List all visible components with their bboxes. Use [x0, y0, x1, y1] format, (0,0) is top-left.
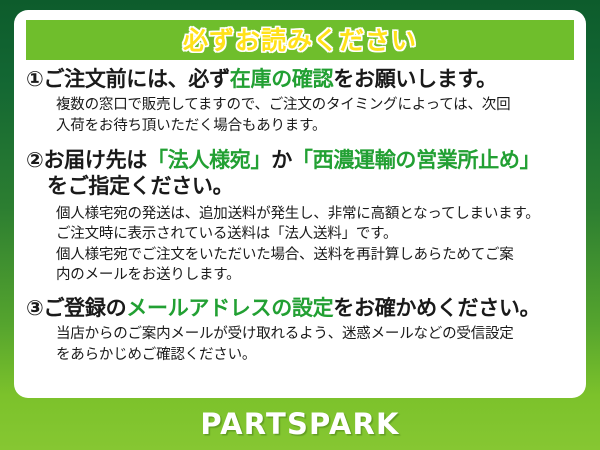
- section-1-body-line-0: 複数の窓口で販売してますので、ご注文のタイミングによっては、次回: [56, 95, 576, 116]
- section-1-marker: ①: [26, 67, 43, 91]
- section-1-body: 複数の窓口で販売してますので、ご注文のタイミングによっては、次回 入荷をお待ち頂…: [26, 95, 576, 136]
- section-1-heading-part-0: ご注文前には、必ず: [43, 67, 229, 91]
- section-3-heading: ③ご登録のメールアドレスの設定をお確かめください。: [26, 295, 576, 321]
- section-2-heading-highlight-2: 「西濃運輸の営業所止め」: [292, 148, 540, 172]
- section-3-marker: ③: [26, 296, 43, 320]
- header-banner: 必ずお読みください: [26, 20, 574, 60]
- section-1-heading-highlight: 在庫の確認: [230, 67, 334, 91]
- brand-logo: PARTSPARK: [200, 407, 399, 441]
- section-3-body-line-0: 当店からのご案内メールが受け取れるよう、迷惑メールなどの受信設定: [56, 324, 576, 345]
- section-2-heading-part-2: か: [271, 148, 292, 172]
- section-1-heading-part-2: をお願いします。: [333, 67, 497, 91]
- section-2-heading: ②お届け先は「法人様宛」か「西濃運輸の営業所止め」 をご指定ください。: [26, 147, 576, 200]
- section-3-heading-part-0: ご登録の: [43, 296, 126, 320]
- section-2-body: 個人様宅宛の発送は、追加送料が発生し、非常に高額となってしまいます。 ご注文時に…: [26, 204, 576, 286]
- notice-section-1: ①ご注文前には、必ず在庫の確認をお願いします。 複数の窓口で販売してますので、ご…: [26, 66, 576, 137]
- section-1-heading: ①ご注文前には、必ず在庫の確認をお願いします。: [26, 66, 576, 92]
- section-2-heading-wrap: をご指定ください。: [26, 173, 576, 199]
- section-2-heading-part-0: お届け先は: [43, 148, 147, 172]
- notice-panel: 必ずお読みください ①ご注文前には、必ず在庫の確認をお願いします。 複数の窓口で…: [14, 10, 586, 398]
- page-title: 必ずお読みください: [183, 28, 417, 53]
- section-2-marker: ②: [26, 148, 43, 172]
- section-2-body-line-3: 内のメールをお送りします。: [56, 265, 576, 286]
- section-3-body-line-1: をあらかじめご確認ください。: [56, 345, 576, 366]
- section-2-body-line-1: ご注文時に表示されている送料は「法人送料」です。: [56, 224, 576, 245]
- section-3-body: 当店からのご案内メールが受け取れるよう、迷惑メールなどの受信設定 をあらかじめご…: [26, 324, 576, 365]
- section-2-heading-highlight-1: 「法人様宛」: [147, 148, 271, 172]
- sections-container: ①ご注文前には、必ず在庫の確認をお願いします。 複数の窓口で販売してますので、ご…: [14, 60, 586, 365]
- notice-section-3: ③ご登録のメールアドレスの設定をお確かめください。 当店からのご案内メールが受け…: [26, 295, 576, 366]
- section-1-body-line-1: 入荷をお待ち頂いただく場合もあります。: [56, 116, 576, 137]
- section-3-heading-highlight: メールアドレスの設定: [126, 296, 333, 320]
- footer-band: PARTSPARK: [0, 398, 600, 450]
- notice-frame: 必ずお読みください ①ご注文前には、必ず在庫の確認をお願いします。 複数の窓口で…: [0, 0, 600, 450]
- section-3-heading-part-2: をお確かめください。: [333, 296, 540, 320]
- section-2-body-line-2: 個人様宅宛でご注文をいただいた場合、送料を再計算しあらためてご案: [56, 245, 576, 266]
- section-2-body-line-0: 個人様宅宛の発送は、追加送料が発生し、非常に高額となってしまいます。: [56, 204, 576, 225]
- notice-section-2: ②お届け先は「法人様宛」か「西濃運輸の営業所止め」 をご指定ください。 個人様宅…: [26, 147, 576, 286]
